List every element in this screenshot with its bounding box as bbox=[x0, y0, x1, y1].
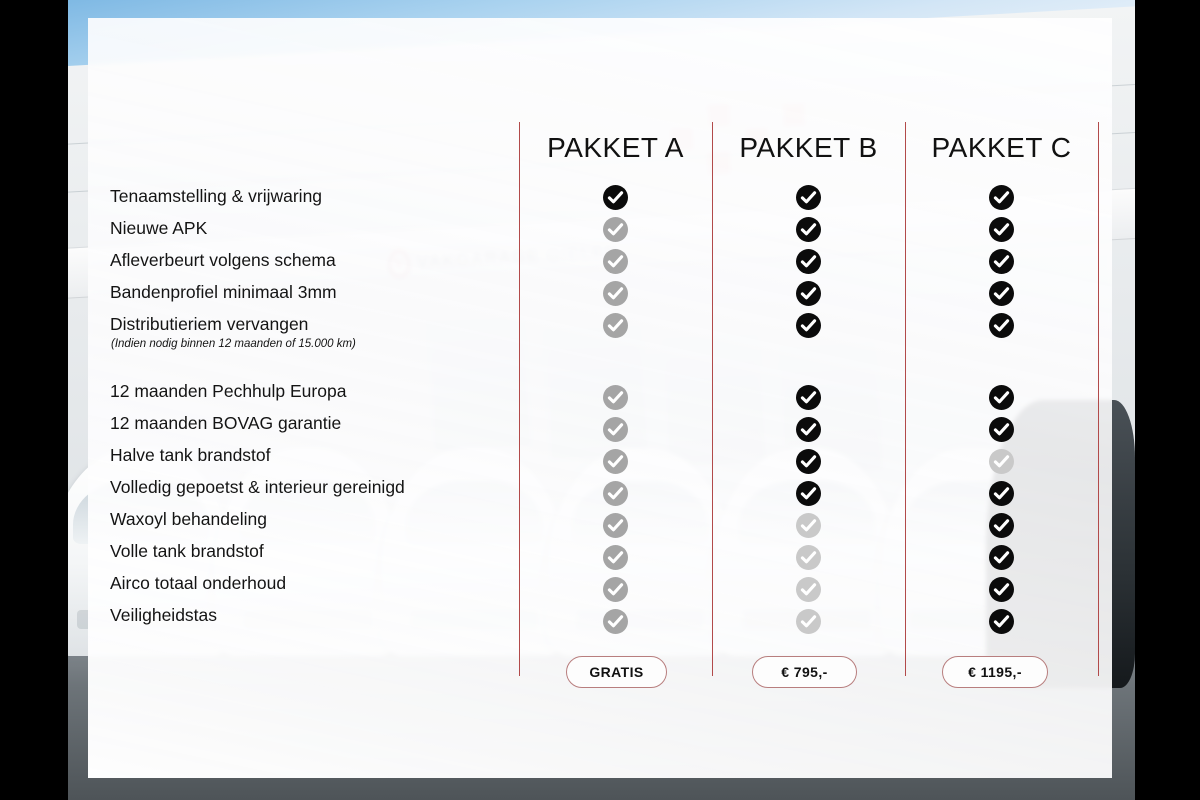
check-cell bbox=[712, 181, 905, 213]
check-cell bbox=[519, 309, 712, 341]
table-row: Volledig gepoetst & interieur gereinigd bbox=[110, 472, 510, 504]
feature-label: 12 maanden Pechhulp Europa bbox=[110, 383, 346, 401]
check-cell bbox=[905, 181, 1098, 213]
check-cell bbox=[712, 477, 905, 509]
footnote-spacer bbox=[712, 341, 905, 355]
check-icon-included bbox=[989, 217, 1014, 242]
check-cell bbox=[712, 605, 905, 637]
check-icon-excluded bbox=[796, 609, 821, 634]
check-cell bbox=[712, 445, 905, 477]
check-cell bbox=[519, 541, 712, 573]
feature-label: Veiligheidstas bbox=[110, 607, 217, 625]
column-header-pakket-c: PAKKET C bbox=[905, 132, 1098, 164]
check-column-pakket-a bbox=[519, 181, 712, 637]
check-icon-included bbox=[796, 385, 821, 410]
feature-label: Volledig gepoetst & interieur gereinigd bbox=[110, 479, 405, 497]
check-cell bbox=[519, 573, 712, 605]
check-cell bbox=[519, 477, 712, 509]
group-spacer bbox=[110, 350, 510, 376]
feature-label: Distributieriem vervangen bbox=[110, 316, 308, 334]
check-cell bbox=[519, 605, 712, 637]
feature-label: Waxoyl behandeling bbox=[110, 511, 267, 529]
check-cell bbox=[712, 309, 905, 341]
check-icon-included bbox=[796, 313, 821, 338]
check-icon-included bbox=[989, 481, 1014, 506]
check-icon-excluded bbox=[989, 449, 1014, 474]
check-cell bbox=[712, 381, 905, 413]
check-icon-excluded bbox=[603, 449, 628, 474]
check-cell bbox=[712, 277, 905, 309]
check-icon-excluded bbox=[796, 545, 821, 570]
check-cell bbox=[905, 477, 1098, 509]
price-pill-pakket-b[interactable]: € 795,- bbox=[752, 656, 857, 688]
check-icon-included bbox=[796, 249, 821, 274]
feature-label: Volle tank brandstof bbox=[110, 543, 264, 561]
check-icon-included bbox=[989, 513, 1014, 538]
group-spacer bbox=[712, 355, 905, 381]
check-icon-included bbox=[989, 385, 1014, 410]
check-icon-excluded bbox=[603, 577, 628, 602]
check-cell bbox=[905, 509, 1098, 541]
table-row: Halve tank brandstof bbox=[110, 440, 510, 472]
check-cell bbox=[905, 413, 1098, 445]
check-cell bbox=[712, 413, 905, 445]
table-row: Volle tank brandstof bbox=[110, 536, 510, 568]
table-row: Airco totaal onderhoud bbox=[110, 568, 510, 600]
check-cell bbox=[519, 445, 712, 477]
check-icon-excluded bbox=[796, 513, 821, 538]
check-cell bbox=[519, 213, 712, 245]
feature-label: Nieuwe APK bbox=[110, 220, 207, 238]
feature-label: 12 maanden BOVAG garantie bbox=[110, 415, 341, 433]
table-row: Waxoyl behandeling bbox=[110, 504, 510, 536]
package-comparison-table: PAKKET A PAKKET B PAKKET C Tenaamstellin… bbox=[88, 18, 1112, 778]
check-cell bbox=[712, 541, 905, 573]
check-icon-included bbox=[796, 217, 821, 242]
check-column-pakket-b bbox=[712, 181, 905, 637]
check-icon-included bbox=[796, 185, 821, 210]
table-row: Distributieriem vervangen bbox=[110, 309, 510, 341]
table-row: Nieuwe APK bbox=[110, 213, 510, 245]
check-icon-excluded bbox=[603, 609, 628, 634]
check-icon-excluded bbox=[603, 481, 628, 506]
check-cell bbox=[519, 413, 712, 445]
check-cell bbox=[905, 381, 1098, 413]
check-icon-included bbox=[989, 185, 1014, 210]
check-icon-included bbox=[989, 313, 1014, 338]
check-cell bbox=[712, 573, 905, 605]
feature-label: Bandenprofiel minimaal 3mm bbox=[110, 284, 337, 302]
table-row: Tenaamstelling & vrijwaring bbox=[110, 181, 510, 213]
check-cell bbox=[519, 181, 712, 213]
table-row: Veiligheidstas bbox=[110, 600, 510, 632]
column-divider bbox=[1098, 122, 1099, 676]
check-icon-excluded bbox=[603, 281, 628, 306]
check-icon-included bbox=[989, 281, 1014, 306]
check-icon-excluded bbox=[603, 513, 628, 538]
check-cell bbox=[712, 509, 905, 541]
check-icon-included bbox=[989, 417, 1014, 442]
screenshot-canvas: V VAKGARAGE GIELEN PAKKET A PAKKET B PAK… bbox=[0, 0, 1200, 800]
check-cell bbox=[519, 245, 712, 277]
table-row: Afleverbeurt volgens schema bbox=[110, 245, 510, 277]
footnote-spacer bbox=[519, 341, 712, 355]
feature-label: Afleverbeurt volgens schema bbox=[110, 252, 336, 270]
check-cell bbox=[519, 277, 712, 309]
check-icon-excluded bbox=[603, 249, 628, 274]
check-icon-excluded bbox=[603, 313, 628, 338]
check-cell bbox=[905, 541, 1098, 573]
check-cell bbox=[712, 213, 905, 245]
check-icon-excluded bbox=[603, 217, 628, 242]
check-cell bbox=[905, 309, 1098, 341]
check-icon-included bbox=[796, 281, 821, 306]
check-icon-excluded bbox=[796, 577, 821, 602]
check-cell bbox=[905, 277, 1098, 309]
check-icon-included bbox=[796, 417, 821, 442]
price-pill-pakket-c[interactable]: € 1195,- bbox=[942, 656, 1048, 688]
check-icon-included bbox=[603, 185, 628, 210]
check-icon-excluded bbox=[603, 417, 628, 442]
check-icon-included bbox=[989, 545, 1014, 570]
column-header-pakket-b: PAKKET B bbox=[712, 132, 905, 164]
feature-label-list: Tenaamstelling & vrijwaringNieuwe APKAfl… bbox=[110, 181, 510, 632]
check-cell bbox=[905, 573, 1098, 605]
check-cell bbox=[905, 213, 1098, 245]
check-cell bbox=[519, 381, 712, 413]
check-icon-included bbox=[989, 577, 1014, 602]
check-icon-included bbox=[796, 481, 821, 506]
check-cell bbox=[905, 245, 1098, 277]
feature-label: Tenaamstelling & vrijwaring bbox=[110, 188, 322, 206]
check-icon-included bbox=[989, 249, 1014, 274]
check-icon-excluded bbox=[603, 385, 628, 410]
check-column-pakket-c bbox=[905, 181, 1098, 637]
column-header-pakket-a: PAKKET A bbox=[519, 132, 712, 164]
check-cell bbox=[905, 605, 1098, 637]
table-row: Bandenprofiel minimaal 3mm bbox=[110, 277, 510, 309]
table-row: 12 maanden Pechhulp Europa bbox=[110, 376, 510, 408]
price-pill-pakket-a[interactable]: GRATIS bbox=[566, 656, 667, 688]
check-icon-excluded bbox=[603, 545, 628, 570]
comparison-card: PAKKET A PAKKET B PAKKET C Tenaamstellin… bbox=[88, 18, 1112, 778]
feature-label: Airco totaal onderhoud bbox=[110, 575, 286, 593]
check-cell bbox=[712, 245, 905, 277]
check-cell bbox=[519, 509, 712, 541]
feature-label: Halve tank brandstof bbox=[110, 447, 271, 465]
check-icon-included bbox=[796, 449, 821, 474]
footnote-spacer bbox=[905, 341, 1098, 355]
group-spacer bbox=[905, 355, 1098, 381]
check-icon-included bbox=[989, 609, 1014, 634]
table-row: 12 maanden BOVAG garantie bbox=[110, 408, 510, 440]
group-spacer bbox=[519, 355, 712, 381]
check-cell bbox=[905, 445, 1098, 477]
